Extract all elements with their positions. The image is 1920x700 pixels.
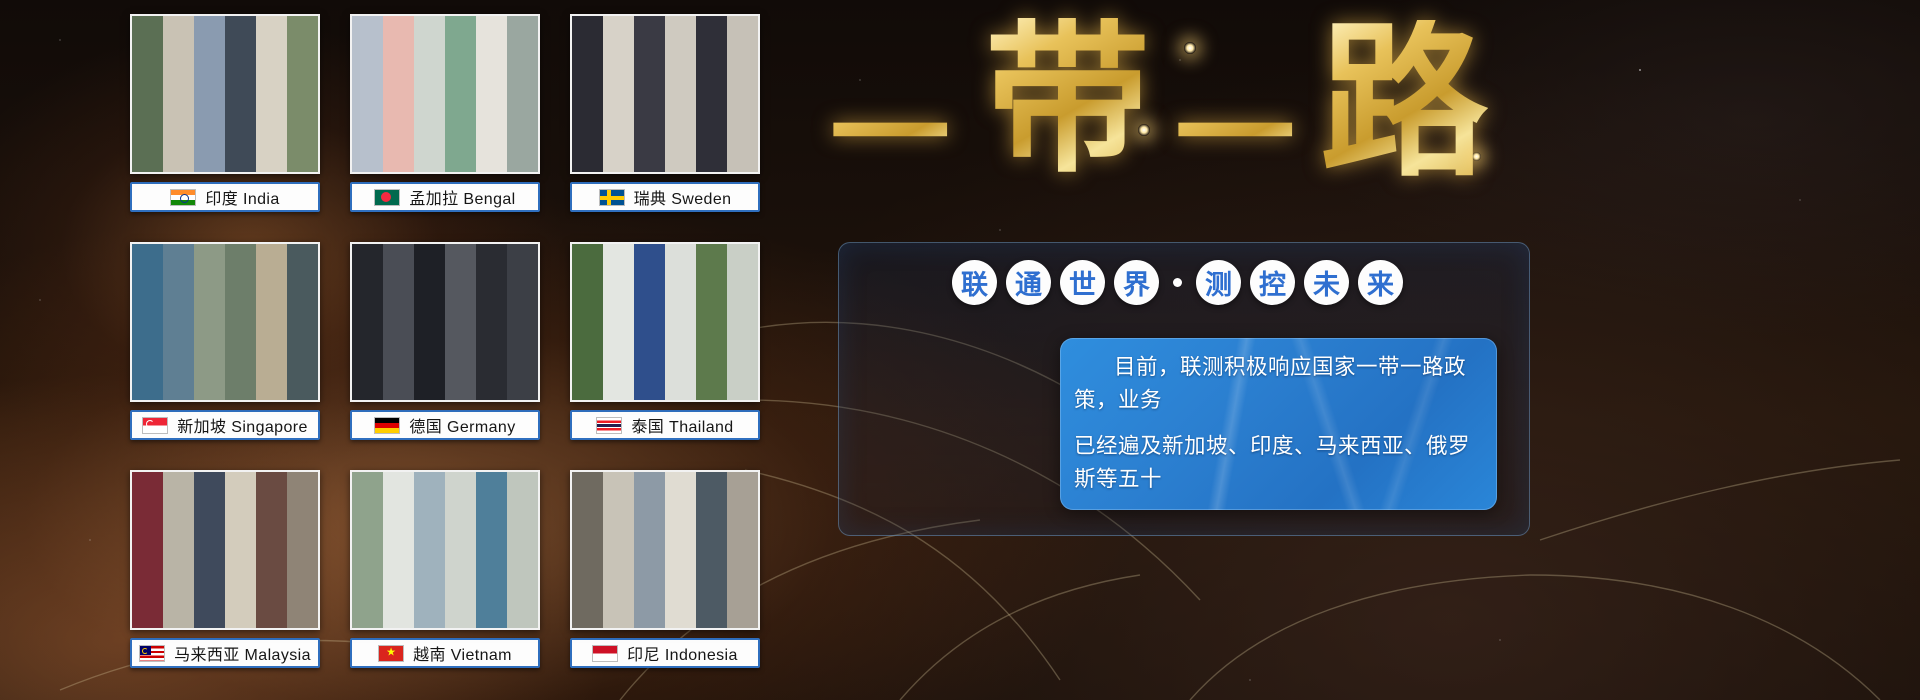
caption-malaysia: 马来西亚 Malaysia (130, 638, 320, 668)
caption-text: 新加坡 Singapore (177, 413, 308, 437)
photo-india (130, 14, 320, 174)
caption-text: 马来西亚 Malaysia (174, 641, 311, 665)
photo-germany (350, 242, 540, 402)
caption-text: 孟加拉 Bengal (409, 185, 515, 209)
photo-strip (132, 16, 318, 172)
headline-char-4: 路 (1320, 20, 1488, 188)
slogan-beads: 联 通 世 界 测 控 未 来 (952, 260, 1403, 305)
caption-text: 瑞典 Sweden (634, 185, 732, 209)
gallery-item-malaysia[interactable]: 马来西亚 Malaysia (130, 470, 320, 668)
flag-malaysia-icon (139, 645, 165, 662)
photo-strip (572, 244, 758, 400)
photo-thailand (570, 242, 760, 402)
slogan-char-1: 联 (952, 260, 997, 305)
photo-strip (132, 472, 318, 628)
description-box: 目前，联测积极响应国家一带一路政策，业务 已经遍及新加坡、印度、马来西亚、俄罗斯… (1060, 338, 1497, 510)
gallery-item-india[interactable]: 印度 India (130, 14, 320, 212)
gallery-item-germany[interactable]: 德国 Germany (350, 242, 540, 440)
flag-singapore-icon (142, 417, 168, 434)
photo-malaysia (130, 470, 320, 630)
photo-strip (352, 16, 538, 172)
slogan-separator-dot (1173, 278, 1182, 287)
flag-india-icon (170, 189, 196, 206)
gallery-item-thailand[interactable]: 泰国 Thailand (570, 242, 760, 440)
sparkle-icon (1138, 124, 1150, 136)
flag-vietnam-icon (378, 645, 404, 662)
headline-calligraphy: 一 带 一 路 (820, 6, 1540, 206)
photo-strip (132, 244, 318, 400)
sparkle-icon (1472, 152, 1481, 161)
photo-strip (572, 16, 758, 172)
photo-strip (352, 472, 538, 628)
country-photo-grid: 印度 India 孟加拉 Bengal 瑞典 Sweden (130, 14, 760, 686)
slogan-char-6: 测 (1196, 260, 1241, 305)
photo-strip (352, 244, 538, 400)
flag-thailand-icon (596, 417, 622, 434)
caption-text: 越南 Vietnam (413, 641, 512, 665)
flag-indonesia-icon (592, 645, 618, 662)
caption-vietnam: 越南 Vietnam (350, 638, 540, 668)
caption-text: 泰国 Thailand (631, 413, 733, 437)
slogan-char-7: 控 (1250, 260, 1295, 305)
description-line-2: 已经遍及新加坡、印度、马来西亚、俄罗斯等五十 (1060, 417, 1497, 496)
gallery-item-sweden[interactable]: 瑞典 Sweden (570, 14, 760, 212)
caption-text: 印度 India (205, 185, 279, 209)
headline-char-2: 带 (985, 18, 1150, 183)
flag-bangladesh-icon (374, 189, 400, 206)
caption-text: 印尼 Indonesia (627, 641, 738, 665)
caption-india: 印度 India (130, 182, 320, 212)
gallery-item-bengal[interactable]: 孟加拉 Bengal (350, 14, 540, 212)
photo-singapore (130, 242, 320, 402)
flag-sweden-icon (599, 189, 625, 206)
description-line-3: 多个国家和地区；为更好服务海外客户，联测先后 (1060, 496, 1497, 510)
slogan-char-8: 未 (1304, 260, 1349, 305)
photo-sweden (570, 14, 760, 174)
sparkle-icon (1184, 42, 1196, 54)
caption-bengal: 孟加拉 Bengal (350, 182, 540, 212)
banner-stage: 印度 India 孟加拉 Bengal 瑞典 Sweden (0, 0, 1920, 700)
photo-indonesia (570, 470, 760, 630)
photo-strip (572, 472, 758, 628)
slogan-char-9: 来 (1358, 260, 1403, 305)
slogan-char-4: 界 (1114, 260, 1159, 305)
photo-bengal (350, 14, 540, 174)
caption-singapore: 新加坡 Singapore (130, 410, 320, 440)
caption-germany: 德国 Germany (350, 410, 540, 440)
description-line-1: 目前，联测积极响应国家一带一路政策，业务 (1060, 338, 1497, 417)
gallery-item-singapore[interactable]: 新加坡 Singapore (130, 242, 320, 440)
slogan-char-3: 世 (1060, 260, 1105, 305)
headline-char-3: 一 (1175, 76, 1295, 196)
gallery-item-vietnam[interactable]: 越南 Vietnam (350, 470, 540, 668)
caption-text: 德国 Germany (409, 413, 515, 437)
flag-germany-icon (374, 417, 400, 434)
slogan-char-2: 通 (1006, 260, 1051, 305)
headline-char-1: 一 (830, 76, 950, 196)
photo-vietnam (350, 470, 540, 630)
caption-indonesia: 印尼 Indonesia (570, 638, 760, 668)
caption-thailand: 泰国 Thailand (570, 410, 760, 440)
caption-sweden: 瑞典 Sweden (570, 182, 760, 212)
gallery-item-indonesia[interactable]: 印尼 Indonesia (570, 470, 760, 668)
